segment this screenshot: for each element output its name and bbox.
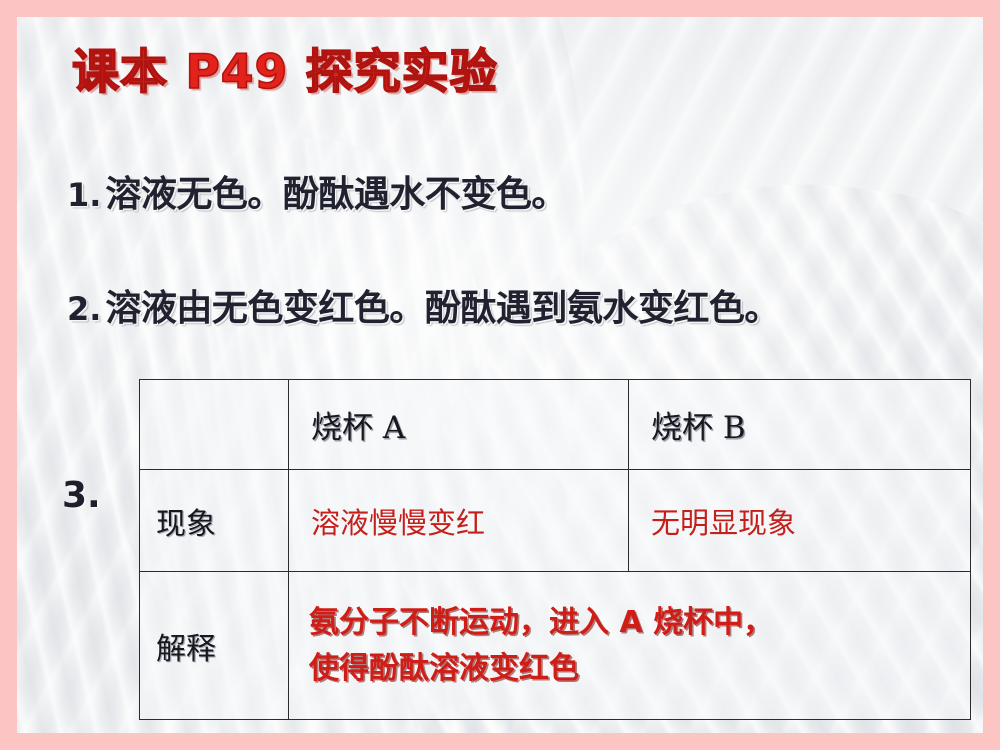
table-row-label-phenomenon: 现象 xyxy=(140,470,289,572)
statement-1-text: 溶液无色。酚酞遇水不变色。 xyxy=(105,165,567,217)
table-cell-explanation-merged: 氨分子不断运动，进入 A 烧杯中， 使得酚酞溶液变红色 xyxy=(289,572,971,720)
table-header-beaker-b: 烧杯 B xyxy=(629,380,971,470)
slide-frame: 课本 P49 探究实验 1. 溶液无色。酚酞遇水不变色。 2. 溶液由无色变红色… xyxy=(0,0,1000,750)
table-cell-phenomenon-b: 无明显现象 xyxy=(629,470,971,572)
explanation-line-2: 使得酚酞溶液变红色 xyxy=(309,646,960,692)
explanation-line-1: 氨分子不断运动，进入 A 烧杯中， xyxy=(309,600,960,646)
page-title: 课本 P49 探究实验 xyxy=(72,44,542,102)
statement-2-number: 2. xyxy=(67,290,101,328)
statement-1-number: 1. xyxy=(67,176,101,214)
table-row-label-explanation: 解释 xyxy=(140,572,289,720)
statement-3-number: 3. xyxy=(62,475,101,516)
statement-1: 1. 溶液无色。酚酞遇水不变色。 xyxy=(67,165,567,217)
slide-canvas: 课本 P49 探究实验 1. 溶液无色。酚酞遇水不变色。 2. 溶液由无色变红色… xyxy=(17,17,983,733)
statement-2-text: 溶液由无色变红色。酚酞遇到氨水变红色。 xyxy=(105,279,780,331)
table-cell-phenomenon-a: 溶液慢慢变红 xyxy=(289,470,629,572)
table-row-header: 烧杯 A 烧杯 B xyxy=(140,380,971,470)
table-row-explanation: 解释 氨分子不断运动，进入 A 烧杯中， 使得酚酞溶液变红色 xyxy=(140,572,971,720)
statement-2: 2. 溶液由无色变红色。酚酞遇到氨水变红色。 xyxy=(67,279,780,331)
table-header-corner-cell xyxy=(140,380,289,470)
table-row-phenomenon: 现象 溶液慢慢变红 无明显现象 xyxy=(140,470,971,572)
table-header-beaker-a: 烧杯 A xyxy=(289,380,629,470)
results-table: 烧杯 A 烧杯 B 现象 溶液慢慢变红 无明显现象 解释 氨分子不断运动，进入 … xyxy=(139,379,971,720)
